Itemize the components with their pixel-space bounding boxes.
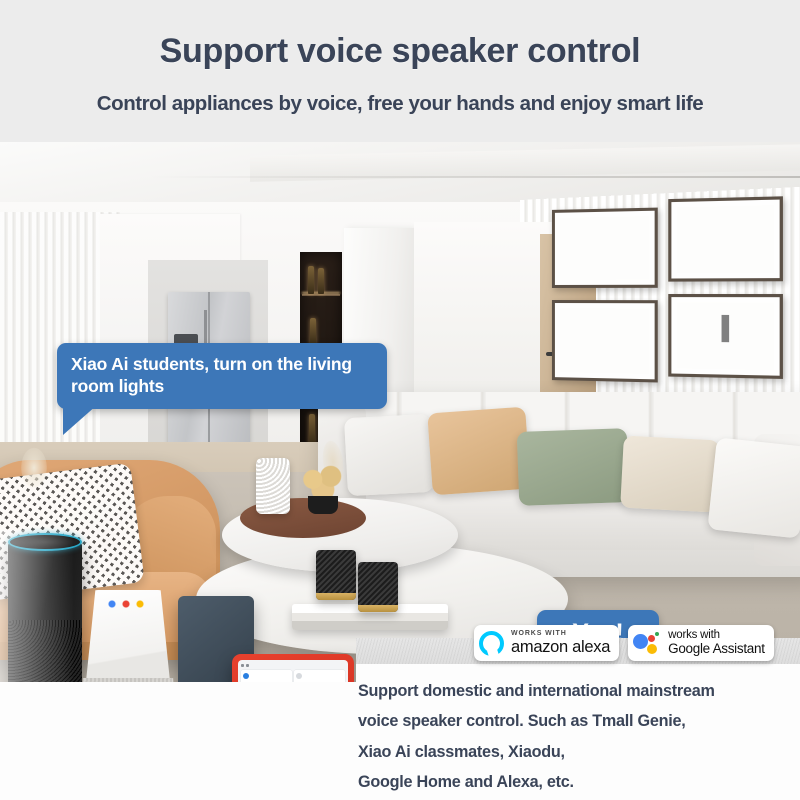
pillow-sage-green [517, 428, 630, 506]
framed-art-lines [668, 196, 783, 281]
dot-red [648, 635, 655, 642]
wine-bottle [308, 266, 314, 294]
dried-pampas-left [8, 438, 60, 504]
google-badge-line2: Google Assistant [668, 642, 765, 657]
google-badge-line1: works with [668, 629, 765, 642]
paragraph-line: Google Home and Alexa, etc. [358, 767, 800, 797]
paragraph-line: Support domestic and international mains… [358, 676, 800, 706]
wine-bottle [310, 318, 316, 344]
page-subtitle: Control appliances by voice, free your h… [0, 92, 800, 116]
status-dot [241, 664, 244, 667]
page-title: Support voice speaker control [0, 32, 800, 71]
alexa-icon [479, 631, 504, 656]
alexa-badge-line2: amazon alexa [511, 639, 610, 656]
badge-google-assistant[interactable]: works with Google Assistant [628, 625, 774, 661]
dried-flowers [296, 464, 352, 508]
gallery-wall [548, 187, 800, 401]
framed-art-dome [552, 208, 658, 288]
textured-vase [256, 458, 290, 514]
status-dot [246, 664, 249, 667]
speech-bubble-command-text: Xiao Ai students, turn on the living roo… [71, 354, 352, 396]
framed-art-map [552, 300, 658, 382]
paragraph-line: Xiao Ai classmates, Xiaodu, [358, 737, 800, 767]
pillow-tan [427, 407, 530, 496]
pillow-white [344, 414, 434, 496]
pillow-corner [707, 437, 800, 538]
tmall-status-bar [241, 663, 345, 668]
description-paragraph: Support domestic and international mains… [358, 676, 800, 798]
google-home-indicator-lights [106, 600, 152, 608]
pillow-beige [620, 436, 720, 513]
compatibility-badges: WORKS WITH amazon alexa works with Googl… [474, 625, 774, 661]
shelf [302, 294, 340, 296]
badge-amazon-alexa[interactable]: WORKS WITH amazon alexa [474, 625, 619, 661]
dot-yellow [647, 644, 657, 654]
speech-bubble-command: Xiao Ai students, turn on the living roo… [57, 343, 387, 409]
dot-blue [633, 634, 648, 649]
google-assistant-icon [633, 631, 660, 656]
alexa-badge-line1: WORKS WITH [511, 630, 610, 637]
framed-art-building [668, 294, 783, 379]
page-header: Support voice speaker control Control ap… [0, 0, 800, 142]
wine-bottle [318, 268, 324, 294]
dot-green [655, 632, 659, 636]
paragraph-line: voice speaker control. Such as Tmall Gen… [358, 706, 800, 736]
bubble-tail [63, 405, 97, 435]
ceiling-recess [250, 144, 800, 182]
echo-light-ring [8, 533, 82, 551]
